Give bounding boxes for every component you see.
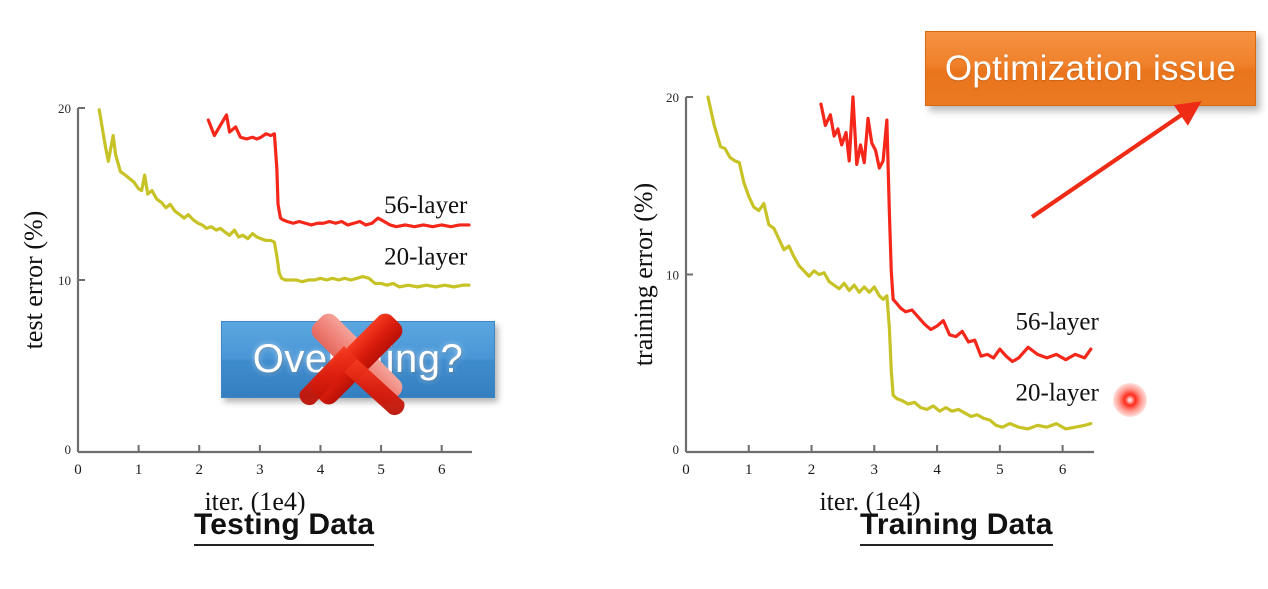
x-tick-label: 0 bbox=[682, 462, 690, 478]
y-tick-label: 20 bbox=[666, 90, 679, 105]
arrow-up-right-icon bbox=[1020, 95, 1220, 225]
x-tick-label: 1 bbox=[135, 462, 143, 478]
caption-testing-data: Testing Data bbox=[194, 508, 374, 546]
overfitting-banner-label: Overfitting? bbox=[253, 337, 464, 382]
y-axis-label: test error (%) bbox=[19, 211, 48, 350]
caption-underline bbox=[194, 544, 374, 546]
caption-training-data: Training Data bbox=[860, 508, 1053, 546]
y-tick-label: 0 bbox=[673, 442, 680, 457]
x-tick-label: 1 bbox=[745, 462, 753, 478]
series-label-56-layer: 56-layer bbox=[1016, 309, 1100, 336]
optimization-issue-label: Optimization issue bbox=[945, 49, 1236, 89]
caption-testing-data-label: Testing Data bbox=[194, 508, 374, 541]
overfitting-banner: Overfitting? bbox=[221, 321, 495, 398]
x-tick-label: 3 bbox=[871, 462, 879, 478]
series-label-20-layer: 20-layer bbox=[1016, 380, 1100, 407]
y-tick-label: 10 bbox=[666, 268, 679, 283]
x-tick-label: 6 bbox=[1059, 462, 1067, 478]
y-tick-label: 20 bbox=[58, 101, 71, 116]
x-tick-label: 2 bbox=[808, 462, 816, 478]
chart-testing-data: 10200012345656-layer20-layeriter. (1e4)t… bbox=[0, 0, 634, 589]
series-label-56-layer: 56-layer bbox=[384, 192, 468, 219]
y-axis-label: training error (%) bbox=[634, 183, 658, 366]
x-tick-label: 3 bbox=[256, 462, 264, 478]
slide-canvas: 10200012345656-layer20-layeriter. (1e4)t… bbox=[0, 0, 1268, 589]
series-label-20-layer: 20-layer bbox=[384, 244, 468, 271]
x-tick-label: 5 bbox=[377, 462, 385, 478]
x-tick-label: 6 bbox=[438, 462, 446, 478]
caption-underline bbox=[860, 544, 1053, 546]
x-tick-label: 4 bbox=[933, 462, 941, 478]
panel-testing-data: 10200012345656-layer20-layeriter. (1e4)t… bbox=[0, 0, 634, 589]
x-tick-label: 4 bbox=[317, 462, 325, 478]
x-tick-label: 5 bbox=[996, 462, 1004, 478]
y-tick-label: 10 bbox=[58, 273, 71, 288]
y-tick-label: 0 bbox=[65, 442, 72, 457]
caption-training-data-label: Training Data bbox=[860, 508, 1053, 541]
x-tick-label: 0 bbox=[74, 462, 82, 478]
x-tick-label: 2 bbox=[195, 462, 203, 478]
